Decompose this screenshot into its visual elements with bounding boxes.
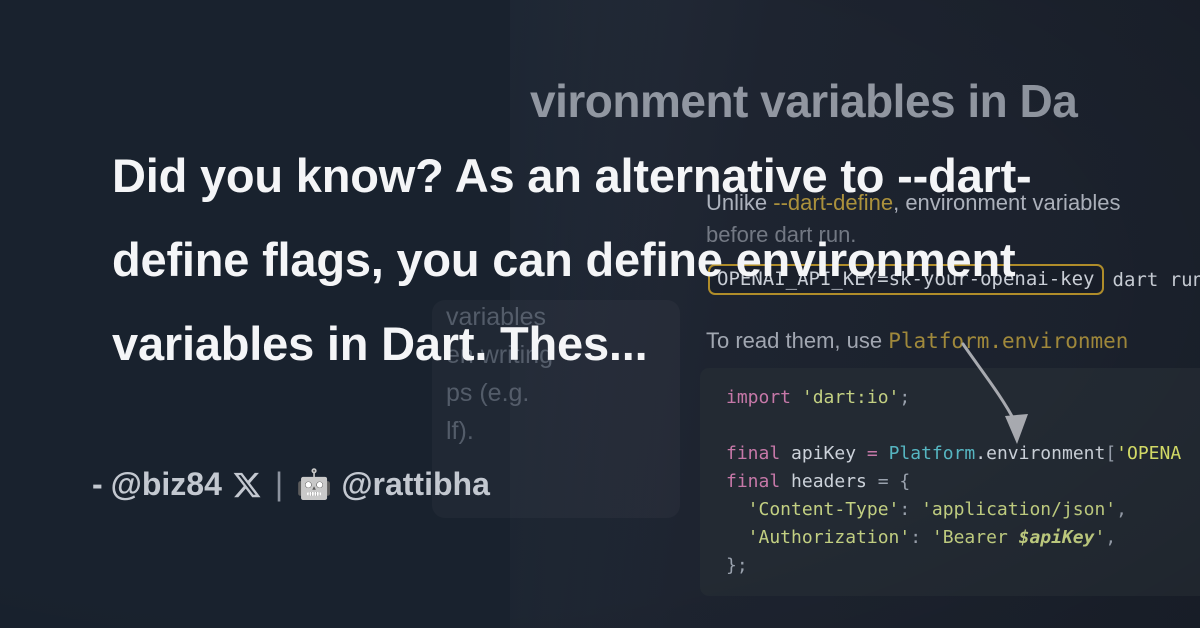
robot-icon: 🤖 [296,468,332,502]
foreground-overlay: Did you know? As an alternative to --dar… [0,0,1200,628]
attribution-dash: - [92,466,103,503]
service-handle: @rattibha [341,466,490,503]
attribution-separator: | [275,466,283,503]
quote-text: Did you know? As an alternative to --dar… [112,134,1112,386]
author-handle: @biz84 [111,466,222,503]
attribution-line: - @biz84 | 🤖 @rattibha [92,466,490,503]
x-logo-icon [232,470,262,500]
social-share-card: vironment variables in Da Unlike --dart-… [0,0,1200,628]
